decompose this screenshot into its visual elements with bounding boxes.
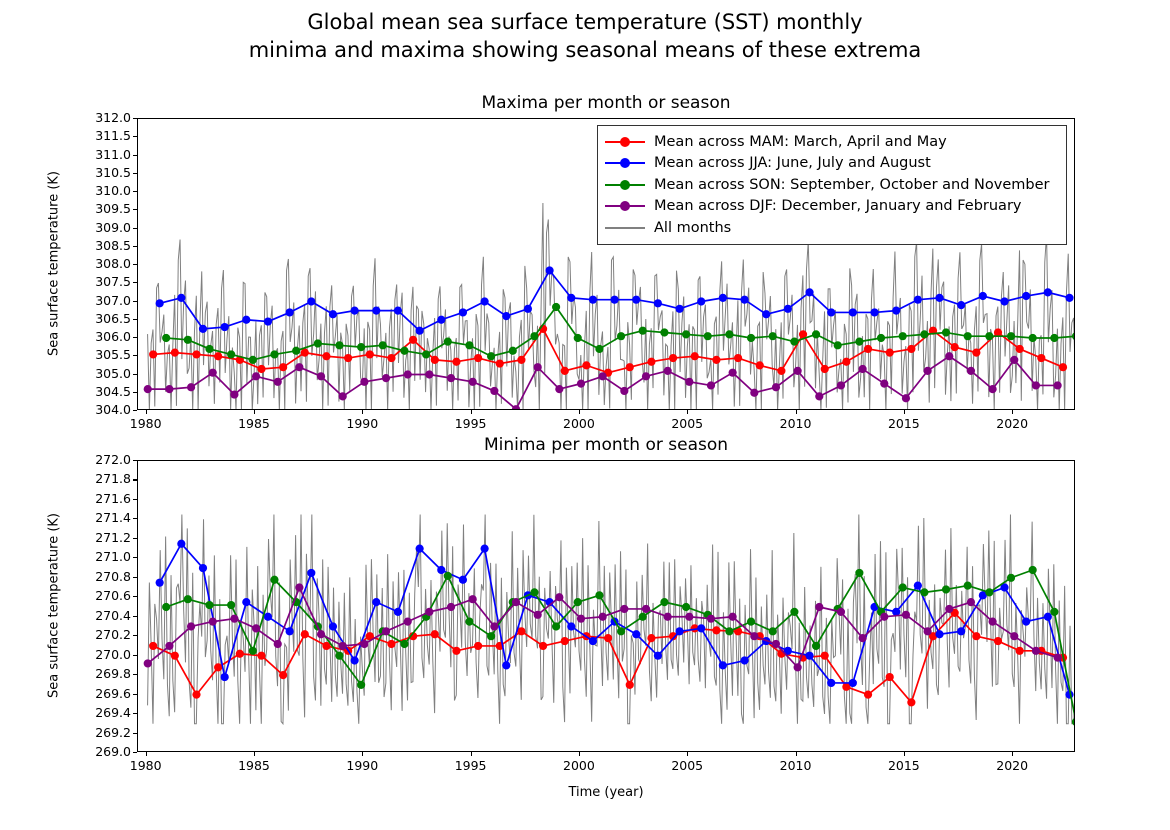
y-tick-mark <box>133 228 137 229</box>
series-marker <box>242 598 250 606</box>
y-tick-mark <box>133 246 137 247</box>
series-marker <box>964 581 972 589</box>
legend-swatch-icon <box>605 135 645 149</box>
legend-label: Mean across DJF: December, January and F… <box>654 198 1021 214</box>
series-marker <box>682 603 690 611</box>
series-marker <box>740 296 748 304</box>
series-marker <box>756 361 764 369</box>
series-marker <box>357 681 365 689</box>
series-marker <box>859 634 867 642</box>
y-tick-mark <box>133 752 137 753</box>
series-marker <box>567 622 575 630</box>
y-tick-label: 270.8 <box>71 569 131 584</box>
series-marker <box>1059 363 1067 371</box>
series-marker <box>725 627 733 635</box>
series-marker <box>577 380 585 388</box>
series-marker <box>599 613 607 621</box>
series-marker <box>149 350 157 358</box>
y-tick-label: 272.0 <box>71 452 131 467</box>
series-marker <box>286 308 294 316</box>
series-marker <box>864 345 872 353</box>
y-tick-label: 269.6 <box>71 686 131 701</box>
y-tick-label: 305.5 <box>71 347 131 362</box>
series-marker <box>1037 354 1045 362</box>
series-marker <box>1050 334 1058 342</box>
maxima-subplot-title: Maxima per month or season <box>137 93 1075 113</box>
series-marker <box>626 681 634 689</box>
series-marker <box>877 334 885 342</box>
y-tick-label: 310.5 <box>71 165 131 180</box>
series-marker <box>815 603 823 611</box>
series-marker <box>360 378 368 386</box>
series-marker <box>149 642 157 650</box>
y-tick-label: 308.5 <box>71 238 131 253</box>
series-marker <box>221 323 229 331</box>
series-marker <box>490 387 498 395</box>
series-marker <box>740 656 748 664</box>
series-marker <box>747 334 755 342</box>
series-marker <box>469 595 477 603</box>
series-marker <box>227 601 235 609</box>
series-marker <box>951 343 959 351</box>
series-marker <box>409 336 417 344</box>
x-tick-mark <box>146 752 147 756</box>
y-tick-label: 304.0 <box>71 402 131 417</box>
series-marker <box>762 310 770 318</box>
series-marker <box>794 663 802 671</box>
x-tick-label: 2020 <box>982 758 1042 773</box>
series-marker <box>812 642 820 650</box>
series-marker <box>156 299 164 307</box>
x-tick-label: 1995 <box>441 758 501 773</box>
minima-ylabel: Sea surface temperature (K) <box>47 506 62 706</box>
series-marker <box>707 381 715 389</box>
x-tick-mark <box>687 410 688 414</box>
series-marker <box>351 307 359 315</box>
series-marker <box>639 327 647 335</box>
y-tick-label: 270.4 <box>71 608 131 623</box>
y-tick-mark <box>133 209 137 210</box>
y-tick-mark <box>133 616 137 617</box>
series-marker <box>920 330 928 338</box>
series-marker <box>642 372 650 380</box>
series-marker <box>942 328 950 336</box>
series-marker <box>481 545 489 553</box>
series-marker <box>712 626 720 634</box>
y-tick-mark <box>133 694 137 695</box>
minima-subplot-title: Minima per month or season <box>137 435 1075 455</box>
series-marker <box>314 339 322 347</box>
series-marker <box>279 671 287 679</box>
series-marker <box>317 630 325 638</box>
series-marker <box>1044 613 1052 621</box>
series-marker <box>561 367 569 375</box>
x-tick-label: 1990 <box>332 758 392 773</box>
series-marker <box>444 572 452 580</box>
series-marker <box>192 350 200 358</box>
series-marker <box>1029 566 1037 574</box>
series-marker <box>719 294 727 302</box>
series-marker <box>989 385 997 393</box>
series-marker <box>805 288 813 296</box>
y-tick-mark <box>133 479 137 480</box>
series-marker <box>474 642 482 650</box>
y-tick-mark <box>133 282 137 283</box>
series-marker <box>595 345 603 353</box>
y-tick-label: 307.0 <box>71 293 131 308</box>
series-marker <box>790 338 798 346</box>
series-marker <box>452 358 460 366</box>
series-marker <box>552 622 560 630</box>
series-marker <box>517 356 525 364</box>
series-marker <box>945 352 953 360</box>
series-marker <box>620 387 628 395</box>
figure-suptitle: Global mean sea surface temperature (SST… <box>0 8 1170 64</box>
series-marker <box>1053 381 1061 389</box>
y-tick-label: 271.4 <box>71 510 131 525</box>
x-tick-label: 2015 <box>874 416 934 431</box>
series-marker <box>205 601 213 609</box>
x-tick-label: 2010 <box>766 416 826 431</box>
series-marker <box>1032 381 1040 389</box>
series-marker <box>777 367 785 375</box>
series-marker <box>372 307 380 315</box>
maxima-ylabel: Sea surface temperature (K) <box>47 164 62 364</box>
series-marker <box>339 642 347 650</box>
series-marker <box>924 367 932 375</box>
series-marker <box>1065 294 1073 302</box>
series-marker <box>979 292 987 300</box>
series-marker <box>236 650 244 658</box>
y-tick-mark <box>133 355 137 356</box>
series-marker <box>274 378 282 386</box>
series-marker <box>177 540 185 548</box>
series-marker <box>209 369 217 377</box>
series-marker <box>459 308 467 316</box>
x-tick-mark <box>796 410 797 414</box>
series-marker <box>567 294 575 302</box>
series-marker <box>647 634 655 642</box>
series-marker <box>165 385 173 393</box>
x-tick-mark <box>1012 752 1013 756</box>
y-tick-label: 311.5 <box>71 128 131 143</box>
series-marker <box>712 356 720 364</box>
series-marker <box>967 598 975 606</box>
series-marker <box>171 652 179 660</box>
y-tick-mark <box>133 635 137 636</box>
x-tick-label: 2000 <box>549 758 609 773</box>
y-tick-mark <box>133 596 137 597</box>
y-tick-label: 310.0 <box>71 183 131 198</box>
y-tick-mark <box>133 118 137 119</box>
series-marker <box>555 385 563 393</box>
y-tick-mark <box>133 674 137 675</box>
series-marker <box>747 618 755 626</box>
series-marker <box>437 316 445 324</box>
series-marker <box>431 630 439 638</box>
legend-label: Mean across MAM: March, April and May <box>654 134 947 150</box>
series-marker <box>697 297 705 305</box>
y-tick-mark <box>133 301 137 302</box>
series-marker <box>805 652 813 660</box>
series-marker <box>769 332 777 340</box>
chart-legend: Mean across MAM: March, April and MayMea… <box>597 125 1067 245</box>
series-marker <box>534 363 542 371</box>
y-tick-mark <box>133 410 137 411</box>
legend-item-4: All months <box>605 217 1058 239</box>
series-marker <box>957 627 965 635</box>
series-marker <box>685 613 693 621</box>
series-marker <box>534 611 542 619</box>
series-marker <box>886 673 894 681</box>
series-marker <box>307 569 315 577</box>
series-marker <box>512 598 520 606</box>
y-tick-mark <box>133 392 137 393</box>
y-tick-mark <box>133 499 137 500</box>
series-marker <box>502 312 510 320</box>
series-marker <box>257 652 265 660</box>
series-marker <box>599 372 607 380</box>
series-marker <box>849 308 857 316</box>
series-marker <box>249 647 257 655</box>
series-marker <box>1044 288 1052 296</box>
series-marker <box>1007 574 1015 582</box>
series-marker <box>1000 297 1008 305</box>
series-marker <box>524 305 532 313</box>
series-marker <box>907 698 915 706</box>
legend-item-1: Mean across JJA: June, July and August <box>605 153 1058 175</box>
y-tick-mark <box>133 173 137 174</box>
x-tick-label: 1990 <box>332 416 392 431</box>
series-marker <box>184 595 192 603</box>
series-marker <box>230 615 238 623</box>
series-marker <box>270 350 278 358</box>
series-marker <box>664 613 672 621</box>
series-marker <box>604 634 612 642</box>
series-marker <box>481 297 489 305</box>
y-tick-label: 305.0 <box>71 366 131 381</box>
series-marker <box>924 627 932 635</box>
series-marker <box>487 632 495 640</box>
series-marker <box>957 301 965 309</box>
series-marker <box>964 332 972 340</box>
legend-swatch-icon <box>605 199 645 213</box>
series-marker <box>552 303 560 311</box>
series-marker <box>252 624 260 632</box>
series-marker <box>1072 332 1075 340</box>
series-marker <box>675 627 683 635</box>
series-marker <box>162 334 170 342</box>
series-marker <box>187 383 195 391</box>
y-tick-label: 271.8 <box>71 471 131 486</box>
series-marker <box>317 372 325 380</box>
series-marker <box>329 622 337 630</box>
series-marker <box>729 613 737 621</box>
x-tick-label: 2000 <box>549 416 609 431</box>
series-marker <box>632 630 640 638</box>
series-marker <box>469 378 477 386</box>
series-marker <box>574 598 582 606</box>
series-marker <box>772 640 780 648</box>
series-marker <box>899 332 907 340</box>
series-marker <box>242 316 250 324</box>
x-tick-mark <box>1012 410 1013 414</box>
y-tick-label: 269.2 <box>71 725 131 740</box>
y-tick-label: 269.0 <box>71 744 131 759</box>
series-marker <box>870 308 878 316</box>
series-marker <box>162 603 170 611</box>
series-marker <box>719 661 727 669</box>
series-marker <box>685 378 693 386</box>
y-tick-mark <box>133 264 137 265</box>
series-marker <box>842 358 850 366</box>
series-marker <box>697 624 705 632</box>
series-marker <box>729 369 737 377</box>
series-marker <box>382 374 390 382</box>
series-marker <box>214 663 222 671</box>
y-tick-mark <box>133 577 137 578</box>
series-marker <box>985 332 993 340</box>
x-tick-label: 1980 <box>116 758 176 773</box>
series-marker <box>821 652 829 660</box>
series-marker <box>589 296 597 304</box>
series-marker <box>187 622 195 630</box>
series-marker <box>892 307 900 315</box>
series-marker <box>669 354 677 362</box>
series-marker <box>339 392 347 400</box>
y-tick-label: 270.0 <box>71 647 131 662</box>
series-marker <box>920 588 928 596</box>
series-marker <box>382 627 390 635</box>
series-marker <box>1010 632 1018 640</box>
series-marker <box>496 359 504 367</box>
series-marker <box>945 605 953 613</box>
series-marker <box>295 583 303 591</box>
series-marker <box>784 305 792 313</box>
series-marker <box>144 659 152 667</box>
x-tick-mark <box>471 410 472 414</box>
x-tick-label: 1985 <box>224 758 284 773</box>
series-marker <box>794 367 802 375</box>
y-tick-mark <box>133 538 137 539</box>
series-marker <box>214 352 222 360</box>
series-marker <box>821 365 829 373</box>
series-marker <box>274 640 282 648</box>
series-marker <box>837 381 845 389</box>
series-marker <box>642 605 650 613</box>
x-tick-mark <box>471 752 472 756</box>
series-marker <box>994 637 1002 645</box>
series-marker <box>379 341 387 349</box>
legend-label: All months <box>654 220 731 236</box>
x-tick-mark <box>904 410 905 414</box>
series-marker <box>230 390 238 398</box>
y-tick-label: 306.0 <box>71 329 131 344</box>
series-marker <box>561 637 569 645</box>
series-marker <box>177 294 185 302</box>
series-marker <box>490 622 498 630</box>
series-marker <box>972 349 980 357</box>
series-marker <box>837 608 845 616</box>
series-marker <box>682 330 690 338</box>
series-marker <box>582 361 590 369</box>
series-marker <box>171 349 179 357</box>
y-tick-mark <box>133 319 137 320</box>
series-marker <box>664 367 672 375</box>
series-marker <box>769 627 777 635</box>
series-marker <box>335 341 343 349</box>
y-tick-label: 312.0 <box>71 110 131 125</box>
series-marker <box>165 642 173 650</box>
legend-item-2: Mean across SON: September, October and … <box>605 174 1058 196</box>
y-tick-mark <box>133 713 137 714</box>
series-marker <box>654 299 662 307</box>
series-marker <box>914 296 922 304</box>
y-tick-label: 307.5 <box>71 274 131 289</box>
x-tick-mark <box>254 752 255 756</box>
series-marker <box>156 579 164 587</box>
x-tick-label: 2005 <box>657 416 717 431</box>
series-marker <box>675 305 683 313</box>
legend-item-3: Mean across DJF: December, January and F… <box>605 196 1058 218</box>
series-marker <box>647 358 655 366</box>
series-marker <box>942 585 950 593</box>
series-marker <box>1016 647 1024 655</box>
series-marker <box>1016 345 1024 353</box>
series-marker <box>459 576 467 584</box>
series-marker <box>387 640 395 648</box>
series-marker <box>416 327 424 335</box>
figure-canvas: Global mean sea surface temperature (SST… <box>0 0 1170 830</box>
y-tick-mark <box>133 733 137 734</box>
x-tick-label: 2015 <box>874 758 934 773</box>
series-marker <box>827 679 835 687</box>
series-marker <box>530 332 538 340</box>
series-marker <box>394 307 402 315</box>
x-tick-label: 2005 <box>657 758 717 773</box>
series-marker <box>855 338 863 346</box>
series-marker <box>886 349 894 357</box>
series-marker <box>902 394 910 402</box>
series-marker <box>880 380 888 388</box>
series-marker <box>387 354 395 362</box>
series-marker <box>834 341 842 349</box>
series-marker <box>935 630 943 638</box>
series-marker <box>144 385 152 393</box>
series-marker <box>1010 356 1018 364</box>
series-marker <box>474 354 482 362</box>
x-tick-label: 1985 <box>224 416 284 431</box>
series-marker <box>1032 647 1040 655</box>
minima-plot-area <box>137 460 1075 752</box>
y-tick-label: 269.4 <box>71 705 131 720</box>
y-tick-label: 309.0 <box>71 220 131 235</box>
series-marker <box>1053 654 1061 662</box>
y-tick-label: 304.5 <box>71 384 131 399</box>
series-marker <box>750 389 758 397</box>
y-tick-mark <box>133 337 137 338</box>
y-tick-mark <box>133 155 137 156</box>
series-marker <box>292 347 300 355</box>
x-tick-mark <box>579 410 580 414</box>
y-tick-mark <box>133 460 137 461</box>
series-marker <box>704 332 712 340</box>
series-marker <box>425 608 433 616</box>
series-marker <box>422 350 430 358</box>
x-tick-label: 2010 <box>766 758 826 773</box>
series-marker <box>249 356 257 364</box>
series-marker <box>654 652 662 660</box>
